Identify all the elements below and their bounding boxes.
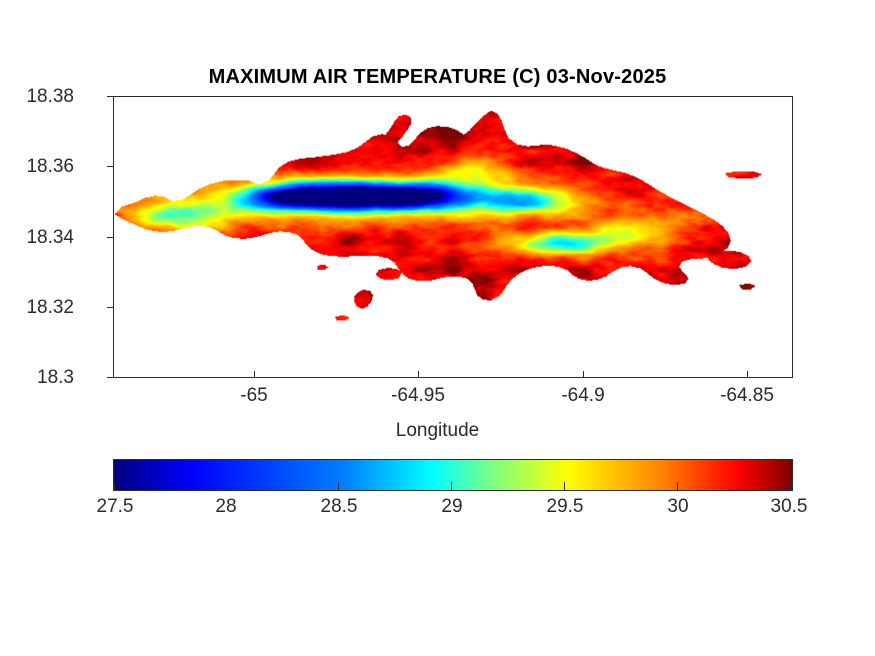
xtick-label--64.85: -64.85 bbox=[677, 386, 817, 405]
ytick-mark-18.34 bbox=[107, 237, 114, 238]
ytick-label-18.3: 18.3 bbox=[0, 368, 74, 387]
cbtick-label-28.5: 28.5 bbox=[279, 497, 399, 516]
cbtick-mark-29.5 bbox=[564, 482, 565, 490]
cbtick-label-30: 30 bbox=[618, 497, 738, 516]
xtick-mark--64.95 bbox=[418, 371, 419, 378]
cbtick-label-29: 29 bbox=[392, 497, 512, 516]
ytick-label-18.32: 18.32 bbox=[0, 298, 74, 317]
ytick-mark-18.38 bbox=[107, 96, 114, 97]
ytick-mark-18.3 bbox=[107, 377, 114, 378]
cbtick-label-29.5: 29.5 bbox=[505, 497, 625, 516]
ytick-label-18.34: 18.34 bbox=[0, 228, 74, 247]
cbtick-label-30.5: 30.5 bbox=[729, 497, 849, 516]
x-axis-label: Longitude bbox=[0, 420, 875, 442]
ytick-label-18.38: 18.38 bbox=[0, 87, 74, 106]
cbtick-mark-30 bbox=[677, 482, 678, 490]
ytick-label-18.36: 18.36 bbox=[0, 157, 74, 176]
xtick-label--65: -65 bbox=[184, 386, 324, 405]
cbtick-mark-28 bbox=[225, 482, 226, 490]
xtick-mark--65 bbox=[254, 371, 255, 378]
colorbar-gradient bbox=[113, 459, 793, 491]
cbtick-mark-30.5 bbox=[790, 482, 791, 490]
figure-canvas: MAXIMUM AIR TEMPERATURE (C) 03-Nov-2025 … bbox=[0, 0, 875, 656]
xtick-mark--64.85 bbox=[747, 371, 748, 378]
cbtick-mark-29 bbox=[451, 482, 452, 490]
cbtick-mark-28.5 bbox=[338, 482, 339, 490]
temperature-heatmap bbox=[114, 97, 792, 377]
xtick-label--64.9: -64.9 bbox=[513, 386, 653, 405]
ytick-mark-18.32 bbox=[107, 307, 114, 308]
colorbar[interactable] bbox=[113, 459, 793, 491]
ytick-mark-18.36 bbox=[107, 166, 114, 167]
map-axes[interactable] bbox=[113, 96, 793, 378]
cbtick-label-28: 28 bbox=[166, 497, 286, 516]
xtick-mark--64.9 bbox=[583, 371, 584, 378]
cbtick-mark-27.5 bbox=[114, 482, 115, 490]
cbtick-label-27.5: 27.5 bbox=[55, 497, 175, 516]
page-title: MAXIMUM AIR TEMPERATURE (C) 03-Nov-2025 bbox=[0, 66, 875, 89]
xtick-label--64.95: -64.95 bbox=[348, 386, 488, 405]
